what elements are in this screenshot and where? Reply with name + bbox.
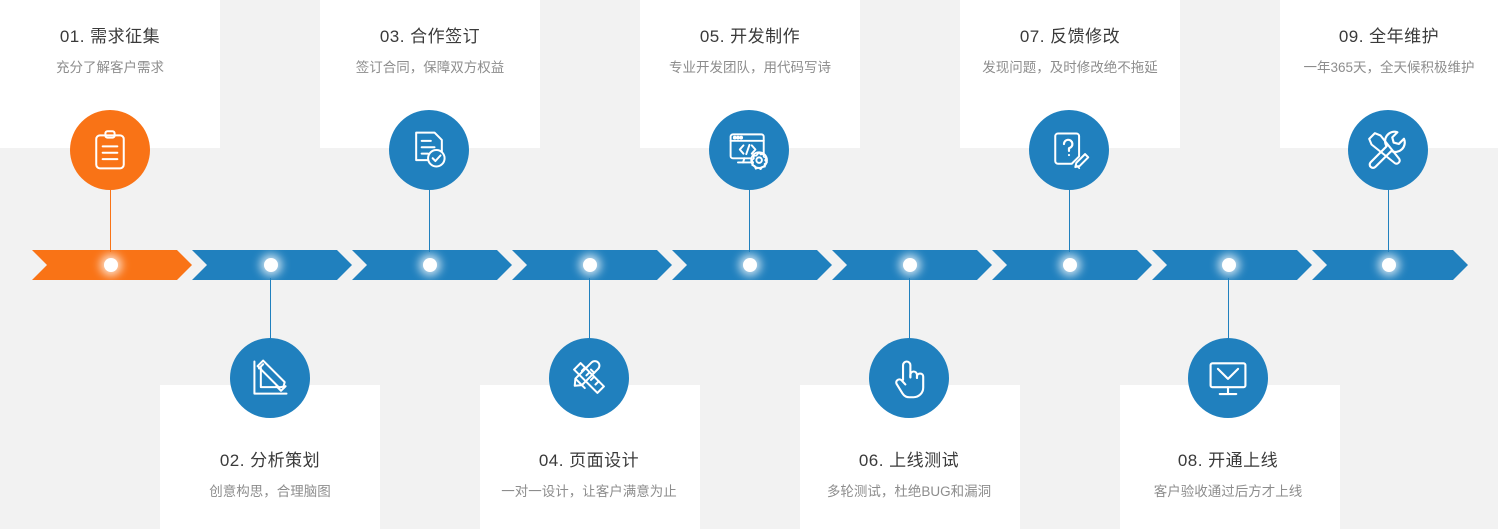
code-window-gear-icon: [726, 127, 772, 173]
bar-dot-02: [264, 258, 278, 272]
step-subtitle-06: 多轮测试，杜绝BUG和漏洞: [779, 482, 1039, 502]
bar-dot-03: [423, 258, 437, 272]
bar-dot-04: [583, 258, 597, 272]
step-text-03: 03. 合作签订 签订合同，保障双方权益: [300, 26, 560, 78]
step-subtitle-05: 专业开发团队，用代码写诗: [620, 58, 880, 78]
connector-line-04: [589, 278, 590, 340]
step-title-04: 04. 页面设计: [459, 450, 719, 472]
bar-dot-08: [1222, 258, 1236, 272]
step-icon-circle-05[interactable]: [709, 110, 789, 190]
step-title-08: 08. 开通上线: [1098, 450, 1358, 472]
pencil-ruler-icon: [567, 356, 611, 400]
step-title-02: 02. 分析策划: [140, 450, 400, 472]
process-timeline: 01. 需求征集 充分了解客户需求 03. 合作签订 签订合同，保障双方权益 0…: [0, 0, 1498, 529]
connector-line-08: [1228, 278, 1229, 340]
connector-line-09: [1388, 190, 1389, 252]
step-text-09: 09. 全年维护 一年365天，全天候积极维护: [1259, 26, 1498, 78]
step-icon-circle-02[interactable]: [230, 338, 310, 418]
step-title-09: 09. 全年维护: [1259, 26, 1498, 48]
step-title-07: 07. 反馈修改: [940, 26, 1200, 48]
step-icon-circle-01[interactable]: [70, 110, 150, 190]
step-subtitle-01: 充分了解客户需求: [0, 58, 240, 78]
step-text-06: 06. 上线测试 多轮测试，杜绝BUG和漏洞: [779, 450, 1039, 502]
step-subtitle-02: 创意构思，合理脑图: [140, 482, 400, 502]
step-text-08: 08. 开通上线 客户验收通过后方才上线: [1098, 450, 1358, 502]
click-hand-icon: [887, 356, 931, 400]
step-text-02: 02. 分析策划 创意构思，合理脑图: [140, 450, 400, 502]
contract-check-icon: [407, 128, 451, 172]
bar-dot-06: [903, 258, 917, 272]
step-title-03: 03. 合作签订: [300, 26, 560, 48]
bar-dot-09: [1382, 258, 1396, 272]
connector-line-06: [909, 278, 910, 340]
step-subtitle-08: 客户验收通过后方才上线: [1098, 482, 1358, 502]
step-text-05: 05. 开发制作 专业开发团队，用代码写诗: [620, 26, 880, 78]
step-icon-circle-08[interactable]: [1188, 338, 1268, 418]
step-icon-circle-07[interactable]: [1029, 110, 1109, 190]
step-subtitle-09: 一年365天，全天候积极维护: [1259, 58, 1498, 78]
step-subtitle-04: 一对一设计，让客户满意为止: [459, 482, 719, 502]
connector-line-07: [1069, 190, 1070, 252]
connector-line-01: [110, 190, 111, 252]
step-icon-circle-04[interactable]: [549, 338, 629, 418]
step-subtitle-07: 发现问题，及时修改绝不拖延: [940, 58, 1200, 78]
step-icon-circle-09[interactable]: [1348, 110, 1428, 190]
step-title-05: 05. 开发制作: [620, 26, 880, 48]
step-icon-circle-06[interactable]: [869, 338, 949, 418]
step-title-01: 01. 需求征集: [0, 26, 240, 48]
step-text-04: 04. 页面设计 一对一设计，让客户满意为止: [459, 450, 719, 502]
question-document-pencil-icon: [1047, 128, 1091, 172]
step-icon-circle-03[interactable]: [389, 110, 469, 190]
step-title-06: 06. 上线测试: [779, 450, 1039, 472]
monitor-check-icon: [1206, 356, 1250, 400]
pencil-chart-icon: [248, 356, 292, 400]
step-subtitle-03: 签订合同，保障双方权益: [300, 58, 560, 78]
connector-line-02: [270, 278, 271, 340]
connector-line-03: [429, 190, 430, 252]
clipboard-icon: [88, 128, 132, 172]
connector-line-05: [749, 190, 750, 252]
bar-dot-05: [743, 258, 757, 272]
wrench-screwdriver-icon: [1366, 128, 1411, 173]
bar-dot-07: [1063, 258, 1077, 272]
step-text-07: 07. 反馈修改 发现问题，及时修改绝不拖延: [940, 26, 1200, 78]
step-text-01: 01. 需求征集 充分了解客户需求: [0, 26, 240, 78]
bar-dot-01: [104, 258, 118, 272]
